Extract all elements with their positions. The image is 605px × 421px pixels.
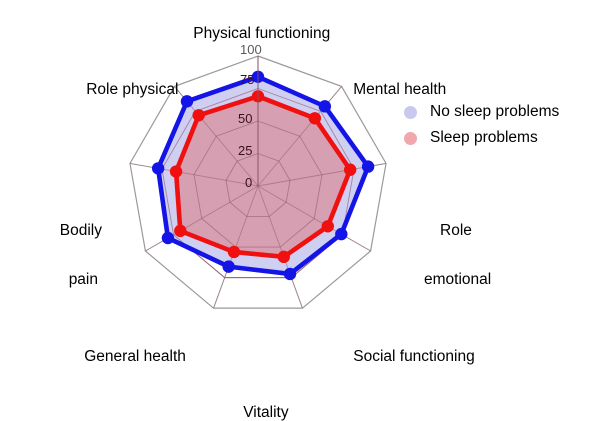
axis-label-line: pain [69, 271, 98, 288]
axis-label-vitality: Vitality [226, 389, 289, 421]
axis-label-general-health: General health [67, 333, 186, 382]
axis-label-line: Role [440, 222, 472, 239]
axis-label-line: General health [84, 348, 186, 365]
axis-label-bodily-pain: Bodily pain [26, 190, 102, 321]
tick-label-25: 25 [238, 143, 252, 158]
tick-label-0: 0 [245, 175, 252, 190]
legend-item-sleep-problems[interactable]: Sleep problems [404, 125, 559, 151]
radar-chart-figure: Physical functioning Mental health Role … [0, 0, 605, 421]
tick-label-75: 75 [240, 72, 254, 87]
axis-label-social-functioning: Social functioning [336, 333, 475, 382]
legend-swatch-icon [404, 132, 417, 145]
axis-label-line: Role physical [86, 81, 178, 98]
axis-label-line: Mental health [353, 81, 446, 98]
legend-label: No sleep problems [430, 103, 559, 121]
legend-swatch-icon [404, 106, 417, 119]
axis-label-role-emotional: Role emotional [424, 190, 491, 321]
tick-label-50: 50 [238, 111, 252, 126]
axis-label-role-physical: Role physical [69, 66, 178, 115]
axis-label-line: emotional [424, 271, 491, 288]
axis-label-line: Vitality [243, 404, 288, 421]
axis-label-line: Bodily [60, 222, 102, 239]
axis-label-line: Social functioning [353, 348, 475, 365]
tick-label-100: 100 [240, 42, 262, 57]
legend-label: Sleep problems [430, 129, 538, 147]
axis-label-line: Physical functioning [193, 25, 330, 42]
legend-item-no-sleep-problems[interactable]: No sleep problems [404, 99, 559, 125]
chart-legend: No sleep problems Sleep problems [404, 99, 559, 151]
